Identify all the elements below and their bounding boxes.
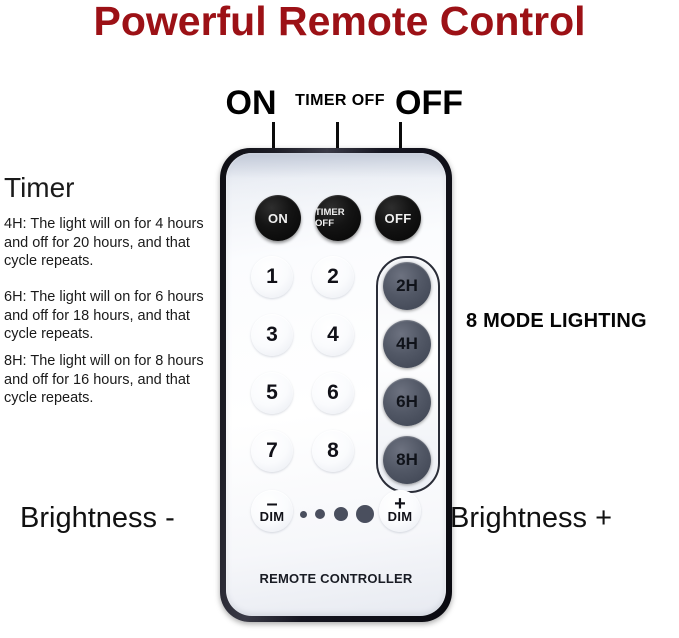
callout-label-off: OFF [374, 84, 484, 123]
dim-plus-sign: + [394, 499, 406, 510]
timer-description-6h: 6H: The light will on for 6 hours and of… [4, 288, 210, 344]
remote-button-1[interactable]: 1 [251, 256, 293, 298]
remote-button-6[interactable]: 6 [312, 372, 354, 414]
timer-button-group: 2H 4H 6H 8H [376, 256, 440, 493]
dim-minus-word: DIM [260, 510, 285, 524]
remote-button-5[interactable]: 5 [251, 372, 293, 414]
remote-button-6h[interactable]: 6H [383, 378, 431, 426]
timer-section-heading: Timer [4, 172, 75, 204]
remote-button-off[interactable]: OFF [375, 195, 421, 241]
brightness-decrease-label: Brightness - [20, 502, 175, 535]
page-title: Powerful Remote Control [0, 0, 679, 45]
mode-lighting-label: 8 MODE LIGHTING [466, 310, 647, 333]
brightness-level-indicator [300, 503, 374, 525]
remote-button-7[interactable]: 7 [251, 430, 293, 472]
remote-button-2h[interactable]: 2H [383, 262, 431, 310]
remote-button-8[interactable]: 8 [312, 430, 354, 472]
faceplate-gloss-overlay [226, 153, 446, 199]
brightness-dot-3-icon [334, 507, 348, 521]
brightness-dot-2-icon [315, 509, 325, 519]
remote-brand-text: REMOTE CONTROLLER [226, 571, 446, 586]
dim-plus-word: DIM [388, 510, 413, 524]
remote-control-device: ON TIMER OFF OFF 1 2 3 4 5 6 7 8 2H 4H 6… [220, 148, 452, 622]
remote-button-2[interactable]: 2 [312, 256, 354, 298]
remote-button-dim-plus[interactable]: + DIM [379, 490, 421, 532]
remote-button-4[interactable]: 4 [312, 314, 354, 356]
brightness-increase-label: Brightness + [450, 502, 612, 535]
remote-button-8h[interactable]: 8H [383, 436, 431, 484]
brightness-dot-4-icon [356, 505, 374, 523]
remote-faceplate: ON TIMER OFF OFF 1 2 3 4 5 6 7 8 2H 4H 6… [226, 153, 446, 616]
remote-button-3[interactable]: 3 [251, 314, 293, 356]
remote-button-4h[interactable]: 4H [383, 320, 431, 368]
brightness-dot-1-icon [300, 511, 307, 518]
dim-minus-sign: – [266, 499, 277, 510]
remote-button-timer-off[interactable]: TIMER OFF [315, 195, 361, 241]
timer-description-4h: 4H: The light will on for 4 hours and of… [4, 215, 210, 271]
timer-description-8h: 8H: The light will on for 8 hours and of… [4, 352, 210, 408]
product-infographic: Powerful Remote Control ON TIMER OFF OFF… [0, 0, 679, 638]
remote-button-on[interactable]: ON [255, 195, 301, 241]
remote-button-dim-minus[interactable]: – DIM [251, 490, 293, 532]
